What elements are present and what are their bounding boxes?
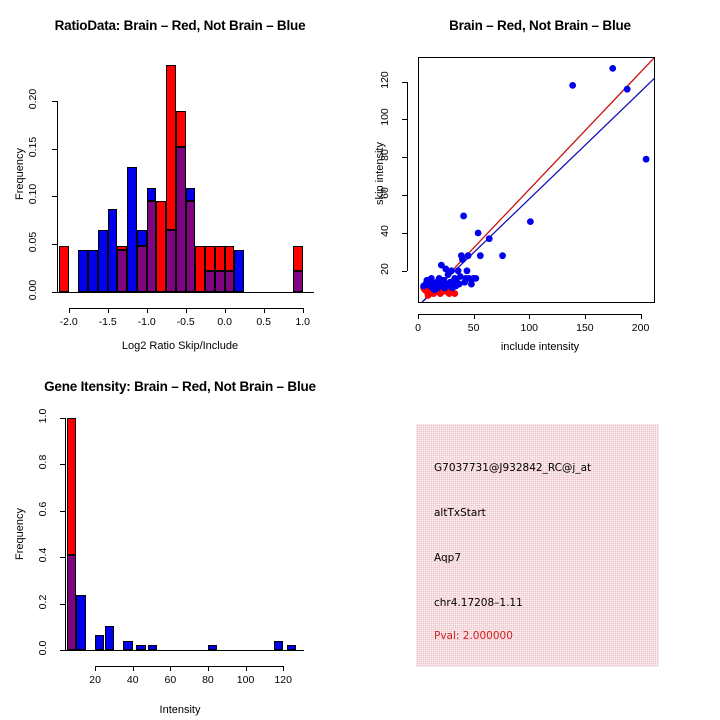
y-tick [402, 82, 407, 83]
y-tick-label: 0.00 [27, 274, 39, 306]
x-tick [147, 308, 148, 313]
x-tick [95, 666, 96, 671]
histogram-bar [98, 230, 108, 292]
x-tick [208, 666, 209, 671]
histogram-bar [127, 167, 137, 292]
x-tick-label: 100 [226, 674, 266, 686]
histogram-bar-overlap [117, 250, 127, 292]
scatter-point [475, 230, 482, 237]
x-tick-label: 0.5 [244, 316, 284, 328]
x-tick-label: 0 [398, 322, 438, 334]
histogram-bar [274, 641, 283, 650]
y-tick-label: 0.10 [27, 178, 39, 210]
histogram-bar [166, 65, 176, 230]
histogram-bar [186, 188, 196, 201]
y-tick [60, 604, 65, 605]
scatter-point [448, 267, 455, 274]
y-tick [402, 157, 407, 158]
histogram-bar [225, 246, 235, 271]
y-axis-line [407, 82, 408, 271]
histogram-bar-overlap [225, 271, 235, 292]
histogram-bar [176, 111, 186, 147]
x-tick-label: 100 [509, 322, 549, 334]
histogram-bar [215, 246, 225, 271]
gene-info-panel: G7037731@J932842_RC@j_at altTxStart Aqp7… [416, 424, 659, 667]
y-tick [402, 271, 407, 272]
histogram-bar-overlap [67, 555, 76, 650]
scatter-point [477, 252, 484, 259]
histogram-bar-overlap [215, 271, 225, 292]
scatter-point [459, 256, 466, 263]
histogram-bar [59, 246, 69, 292]
x-tick-label: -2.0 [49, 316, 89, 328]
x-tick [225, 308, 226, 313]
x-tick [133, 666, 134, 671]
scatter-graphics [360, 0, 720, 360]
y-tick [52, 244, 57, 245]
y-tick [402, 119, 407, 120]
scatter-plot-area: 05010015020020406080100120 [360, 0, 720, 360]
fit-line-brain-fit [421, 57, 655, 303]
x-tick [108, 308, 109, 313]
scatter-point [609, 65, 616, 72]
histogram-bar-overlap [293, 271, 303, 292]
panel-scatter: Brain – Red, Not Brain – Blue skip inten… [360, 0, 720, 360]
y-tick-label: 1.0 [37, 400, 49, 432]
y-tick-label: 0.15 [27, 131, 39, 163]
histogram-bar [234, 250, 244, 292]
histogram-bar [147, 188, 157, 201]
histogram-bar [88, 250, 98, 292]
x-tick-label: 1.0 [283, 316, 323, 328]
x-tick-label: -0.5 [166, 316, 206, 328]
x-tick-label: 200 [621, 322, 661, 334]
x-tick-label: 50 [454, 322, 494, 334]
x-axis-line [95, 666, 283, 667]
x-tick [246, 666, 247, 671]
y-tick-label: 60 [379, 177, 391, 209]
histogram-bar [205, 246, 215, 271]
x-tick-label: 60 [150, 674, 190, 686]
ratio-hist-plot-area: 0.000.050.100.150.20-2.0-1.5-1.0-0.50.00… [0, 0, 360, 360]
scatter-point [465, 252, 472, 259]
y-tick-label: 20 [379, 253, 391, 285]
histogram-bar [156, 201, 166, 292]
x-tick [283, 666, 284, 671]
histogram-bar-overlap [205, 271, 215, 292]
x-tick [170, 666, 171, 671]
scatter-point [643, 156, 650, 163]
y-tick [52, 101, 57, 102]
x-tick-label: -1.0 [127, 316, 167, 328]
histogram-bar [105, 626, 114, 650]
histogram-bar [95, 635, 104, 650]
x-tick [303, 308, 304, 313]
y-tick [52, 196, 57, 197]
y-tick-label: 0.0 [37, 632, 49, 664]
info-pval: Pval: 2.000000 [434, 630, 513, 642]
histogram-bar [108, 209, 118, 292]
y-tick-label: 0.4 [37, 539, 49, 571]
histogram-bar [76, 595, 85, 650]
x-tick-label: 120 [263, 674, 303, 686]
gene-hist-plot-area: 0.00.20.40.60.81.020406080100120 [0, 360, 360, 720]
scatter-point [527, 218, 534, 225]
histogram-bar [123, 641, 132, 650]
x-tick [264, 308, 265, 313]
y-tick [60, 511, 65, 512]
histogram-bar-overlap [186, 201, 196, 292]
scatter-point [486, 235, 493, 242]
panel-gene-histogram: Gene Itensity: Brain – Red, Not Brain – … [0, 360, 360, 720]
y-tick-label: 100 [379, 101, 391, 133]
y-tick [402, 233, 407, 234]
y-tick-label: 0.05 [27, 226, 39, 258]
x-tick [418, 314, 419, 319]
y-tick-label: 40 [379, 215, 391, 247]
y-tick-label: 0.20 [27, 83, 39, 115]
y-tick [60, 557, 65, 558]
scatter-point [472, 275, 479, 282]
y-tick-label: 120 [379, 64, 391, 96]
info-locus: chr4.17208–1.11 [434, 597, 523, 609]
x-tick-label: 40 [113, 674, 153, 686]
scatter-point [624, 86, 631, 93]
y-tick-label: 0.2 [37, 586, 49, 618]
histogram-bar-overlap [166, 230, 176, 292]
scatter-point [499, 252, 506, 259]
y-tick [60, 418, 65, 419]
info-event-type: altTxStart [434, 507, 486, 519]
histogram-bar [195, 246, 205, 292]
y-tick-label: 80 [379, 139, 391, 171]
x-tick-label: -1.5 [88, 316, 128, 328]
y-tick [402, 195, 407, 196]
info-probe-id: G7037731@J932842_RC@j_at [434, 462, 591, 474]
x-tick [474, 314, 475, 319]
scatter-point [464, 267, 471, 274]
histogram-bar-overlap [137, 246, 147, 292]
y-tick [52, 149, 57, 150]
histogram-bar [137, 230, 147, 246]
histogram-bar [78, 250, 88, 292]
histogram-bar [293, 246, 303, 271]
histogram-bar [67, 418, 76, 555]
bar-baseline [55, 292, 314, 293]
x-tick [641, 314, 642, 319]
x-tick [69, 308, 70, 313]
y-axis-line [57, 101, 58, 292]
x-tick [186, 308, 187, 313]
histogram-bar-overlap [147, 201, 157, 292]
x-tick-label: 20 [75, 674, 115, 686]
info-gene-symbol: Aqp7 [434, 552, 461, 564]
y-tick [60, 464, 65, 465]
histogram-bar-overlap [176, 147, 186, 292]
x-tick [529, 314, 530, 319]
scatter-point [569, 82, 576, 89]
scatter-point [460, 213, 467, 220]
x-tick [585, 314, 586, 319]
x-tick-label: 150 [565, 322, 605, 334]
y-tick-label: 0.6 [37, 493, 49, 525]
y-axis-line [65, 418, 66, 650]
x-tick-label: 0.0 [205, 316, 245, 328]
panel-ratio-histogram: RatioData: Brain – Red, Not Brain – Blue… [0, 0, 360, 360]
y-tick-label: 0.8 [37, 446, 49, 478]
x-tick-label: 80 [188, 674, 228, 686]
bar-baseline [63, 650, 304, 651]
plot-canvas: RatioData: Brain – Red, Not Brain – Blue… [0, 0, 720, 720]
